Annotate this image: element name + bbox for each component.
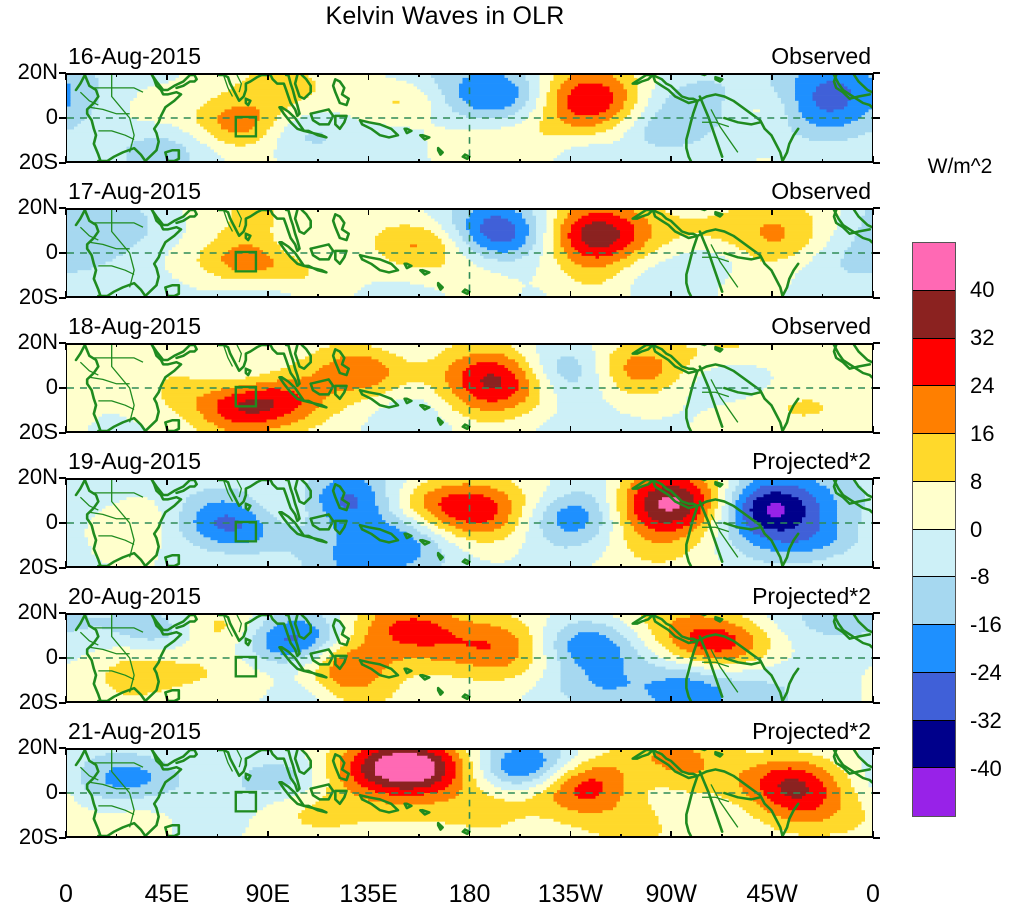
y-tick bbox=[873, 162, 880, 164]
map-panel-2: 17-Aug-2015Observed 20N020S bbox=[66, 208, 873, 298]
map-panel-3: 18-Aug-2015Observed 20N020S bbox=[66, 343, 873, 433]
y-tick bbox=[873, 252, 880, 254]
x-minor-tick bbox=[721, 73, 723, 77]
x-minor-tick bbox=[620, 613, 622, 617]
colorbar-tick-label: 40 bbox=[970, 277, 994, 303]
x-tick bbox=[166, 748, 168, 755]
x-minor-tick bbox=[217, 73, 219, 77]
x-minor-tick bbox=[620, 159, 622, 163]
x-tick bbox=[65, 478, 67, 485]
x-tick bbox=[670, 748, 672, 755]
x-tick bbox=[872, 478, 874, 485]
x-tick bbox=[469, 343, 471, 350]
x-minor-tick bbox=[217, 699, 219, 703]
x-tick bbox=[771, 831, 773, 838]
x-minor-tick bbox=[217, 748, 219, 752]
y-tick bbox=[59, 612, 66, 614]
x-tick bbox=[570, 613, 572, 620]
y-tick bbox=[873, 432, 880, 434]
x-minor-tick bbox=[217, 343, 219, 347]
x-tick bbox=[670, 561, 672, 568]
x-tick bbox=[368, 748, 370, 755]
x-axis-tick-label: 135E bbox=[339, 880, 397, 909]
x-tick bbox=[872, 613, 874, 620]
x-tick bbox=[872, 73, 874, 80]
x-minor-tick bbox=[822, 73, 824, 77]
y-tick bbox=[873, 657, 880, 659]
figure-root: Kelvin Waves in OLR 16-Aug-2015Observed … bbox=[0, 0, 1021, 920]
panel-date-label: 16-Aug-2015 bbox=[68, 43, 201, 70]
x-tick bbox=[267, 696, 269, 703]
x-tick bbox=[670, 831, 672, 838]
x-tick bbox=[368, 343, 370, 350]
colorbar-tick-label: 32 bbox=[970, 325, 994, 351]
y-tick bbox=[873, 522, 880, 524]
x-minor-tick bbox=[217, 613, 219, 617]
x-minor-tick bbox=[721, 159, 723, 163]
map-panel-6: 21-Aug-2015Projected*2 20N020S bbox=[66, 748, 873, 838]
x-tick bbox=[65, 613, 67, 620]
colorbar-band bbox=[913, 673, 955, 721]
x-tick bbox=[368, 208, 370, 215]
x-minor-tick bbox=[418, 478, 420, 482]
y-tick bbox=[59, 567, 66, 569]
x-tick bbox=[267, 73, 269, 80]
x-minor-tick bbox=[519, 478, 521, 482]
x-tick bbox=[166, 426, 168, 433]
x-tick bbox=[469, 156, 471, 163]
x-minor-tick bbox=[317, 748, 319, 752]
panel-date-label: 21-Aug-2015 bbox=[68, 718, 201, 745]
x-minor-tick bbox=[418, 699, 420, 703]
x-tick bbox=[166, 561, 168, 568]
y-axis-tick-label: 0 bbox=[0, 509, 58, 535]
x-tick bbox=[771, 156, 773, 163]
x-tick bbox=[570, 831, 572, 838]
x-minor-tick bbox=[116, 834, 118, 838]
y-tick bbox=[59, 837, 66, 839]
y-tick bbox=[59, 387, 66, 389]
y-tick bbox=[873, 297, 880, 299]
colorbar-band bbox=[913, 291, 955, 339]
olr-anomaly-field bbox=[67, 345, 872, 431]
y-tick bbox=[873, 612, 880, 614]
x-minor-tick bbox=[620, 429, 622, 433]
x-tick bbox=[469, 561, 471, 568]
x-minor-tick bbox=[217, 478, 219, 482]
x-tick bbox=[670, 613, 672, 620]
olr-anomaly-field bbox=[67, 75, 872, 161]
x-tick bbox=[872, 748, 874, 755]
x-minor-tick bbox=[116, 429, 118, 433]
x-tick bbox=[570, 73, 572, 80]
x-tick bbox=[65, 73, 67, 80]
x-tick bbox=[570, 208, 572, 215]
y-tick bbox=[873, 387, 880, 389]
x-tick bbox=[368, 613, 370, 620]
x-minor-tick bbox=[418, 73, 420, 77]
x-minor-tick bbox=[822, 159, 824, 163]
x-tick bbox=[570, 748, 572, 755]
colorbar-tick-label: -8 bbox=[970, 564, 990, 590]
panel-date-label: 20-Aug-2015 bbox=[68, 583, 201, 610]
x-tick bbox=[469, 831, 471, 838]
x-minor-tick bbox=[116, 159, 118, 163]
x-minor-tick bbox=[217, 564, 219, 568]
y-tick bbox=[873, 207, 880, 209]
x-minor-tick bbox=[519, 748, 521, 752]
colorbar-band bbox=[913, 577, 955, 625]
x-tick bbox=[166, 73, 168, 80]
x-tick bbox=[166, 291, 168, 298]
x-tick bbox=[368, 73, 370, 80]
colorbar-band bbox=[913, 434, 955, 482]
x-minor-tick bbox=[418, 159, 420, 163]
x-axis-tick-label: 180 bbox=[449, 880, 491, 909]
x-minor-tick bbox=[418, 429, 420, 433]
panel-source-label: Projected*2 bbox=[752, 583, 871, 610]
panel-source-label: Observed bbox=[771, 43, 871, 70]
x-tick bbox=[570, 156, 572, 163]
colorbar-tick-label: 16 bbox=[970, 421, 994, 447]
x-tick bbox=[267, 831, 269, 838]
y-axis-tick-label: 20N bbox=[0, 194, 58, 220]
x-minor-tick bbox=[519, 73, 521, 77]
x-axis-labels: 045E90E135E180135W90W45W0 bbox=[0, 880, 1021, 914]
x-axis-tick-label: 135W bbox=[538, 880, 603, 909]
x-tick bbox=[166, 696, 168, 703]
x-axis-tick-label: 0 bbox=[59, 880, 73, 909]
x-tick bbox=[65, 208, 67, 215]
x-minor-tick bbox=[317, 294, 319, 298]
x-minor-tick bbox=[217, 294, 219, 298]
x-minor-tick bbox=[721, 343, 723, 347]
x-minor-tick bbox=[519, 159, 521, 163]
x-tick bbox=[771, 343, 773, 350]
x-minor-tick bbox=[822, 564, 824, 568]
x-axis-tick-label: 0 bbox=[866, 880, 880, 909]
x-minor-tick bbox=[620, 564, 622, 568]
x-tick bbox=[670, 73, 672, 80]
y-axis-tick-label: 20S bbox=[0, 149, 58, 175]
panel-plot-area bbox=[66, 208, 873, 298]
panel-source-label: Observed bbox=[771, 313, 871, 340]
colorbar-tick-label: 8 bbox=[970, 469, 982, 495]
x-axis-tick-label: 45W bbox=[746, 880, 797, 909]
x-minor-tick bbox=[519, 208, 521, 212]
x-tick bbox=[570, 291, 572, 298]
x-tick bbox=[771, 696, 773, 703]
x-minor-tick bbox=[317, 564, 319, 568]
x-tick bbox=[368, 478, 370, 485]
x-minor-tick bbox=[317, 159, 319, 163]
x-tick bbox=[267, 343, 269, 350]
colorbar-band bbox=[913, 482, 955, 530]
map-panel-4: 19-Aug-2015Projected*2 20N020S bbox=[66, 478, 873, 568]
x-tick bbox=[267, 748, 269, 755]
colorbar-unit-label: W/m^2 bbox=[905, 155, 1015, 179]
panel-plot-area bbox=[66, 748, 873, 838]
x-tick bbox=[771, 208, 773, 215]
x-tick bbox=[469, 208, 471, 215]
x-tick bbox=[771, 291, 773, 298]
y-axis-tick-label: 20S bbox=[0, 554, 58, 580]
x-minor-tick bbox=[217, 834, 219, 838]
y-tick bbox=[873, 117, 880, 119]
x-minor-tick bbox=[620, 294, 622, 298]
x-tick bbox=[469, 478, 471, 485]
x-tick bbox=[469, 291, 471, 298]
x-minor-tick bbox=[519, 343, 521, 347]
x-minor-tick bbox=[721, 834, 723, 838]
colorbar-band bbox=[913, 339, 955, 387]
x-tick bbox=[771, 73, 773, 80]
x-minor-tick bbox=[418, 208, 420, 212]
x-minor-tick bbox=[721, 478, 723, 482]
panel-date-label: 17-Aug-2015 bbox=[68, 178, 201, 205]
y-axis-tick-label: 0 bbox=[0, 239, 58, 265]
x-tick bbox=[65, 343, 67, 350]
x-tick bbox=[771, 478, 773, 485]
panel-source-label: Projected*2 bbox=[752, 718, 871, 745]
colorbar-band bbox=[913, 625, 955, 673]
x-minor-tick bbox=[317, 343, 319, 347]
x-minor-tick bbox=[116, 748, 118, 752]
x-minor-tick bbox=[822, 294, 824, 298]
x-tick bbox=[166, 831, 168, 838]
x-minor-tick bbox=[620, 208, 622, 212]
colorbar-band bbox=[913, 721, 955, 769]
x-minor-tick bbox=[822, 208, 824, 212]
x-minor-tick bbox=[317, 834, 319, 838]
x-minor-tick bbox=[519, 429, 521, 433]
x-tick bbox=[65, 748, 67, 755]
x-tick bbox=[670, 291, 672, 298]
x-minor-tick bbox=[418, 564, 420, 568]
x-minor-tick bbox=[721, 613, 723, 617]
olr-anomaly-field bbox=[67, 750, 872, 836]
x-tick bbox=[570, 561, 572, 568]
x-tick bbox=[267, 208, 269, 215]
x-tick bbox=[267, 561, 269, 568]
x-tick bbox=[670, 478, 672, 485]
x-tick bbox=[771, 613, 773, 620]
colorbar-tick-label: 24 bbox=[970, 373, 994, 399]
x-tick bbox=[368, 831, 370, 838]
x-minor-tick bbox=[620, 73, 622, 77]
colorbar-band bbox=[913, 386, 955, 434]
colorbar-tick-label: 0 bbox=[970, 517, 982, 543]
y-axis-tick-label: 0 bbox=[0, 374, 58, 400]
x-tick bbox=[166, 478, 168, 485]
y-tick bbox=[873, 477, 880, 479]
colorbar-band bbox=[913, 243, 955, 291]
x-minor-tick bbox=[317, 429, 319, 433]
x-minor-tick bbox=[116, 208, 118, 212]
x-tick bbox=[771, 748, 773, 755]
map-panel-1: 16-Aug-2015Observed 20N020S bbox=[66, 73, 873, 163]
colorbar-tick-label: -24 bbox=[970, 660, 1002, 686]
panel-date-label: 19-Aug-2015 bbox=[68, 448, 201, 475]
x-minor-tick bbox=[116, 294, 118, 298]
y-axis-tick-label: 20S bbox=[0, 419, 58, 445]
x-tick bbox=[570, 426, 572, 433]
x-minor-tick bbox=[116, 478, 118, 482]
y-axis-tick-label: 20N bbox=[0, 59, 58, 85]
x-minor-tick bbox=[116, 699, 118, 703]
y-tick bbox=[873, 837, 880, 839]
x-tick bbox=[267, 156, 269, 163]
y-axis-tick-label: 20S bbox=[0, 284, 58, 310]
x-tick bbox=[166, 343, 168, 350]
panel-plot-area bbox=[66, 478, 873, 568]
colorbar-tick-labels: 4032241680-8-16-24-32-40 bbox=[962, 242, 1020, 817]
olr-anomaly-field bbox=[67, 210, 872, 296]
y-tick bbox=[873, 567, 880, 569]
x-minor-tick bbox=[620, 478, 622, 482]
x-minor-tick bbox=[721, 208, 723, 212]
x-tick bbox=[771, 561, 773, 568]
y-axis-tick-label: 0 bbox=[0, 104, 58, 130]
panel-plot-area bbox=[66, 613, 873, 703]
x-minor-tick bbox=[217, 208, 219, 212]
x-minor-tick bbox=[620, 834, 622, 838]
x-minor-tick bbox=[116, 73, 118, 77]
x-minor-tick bbox=[620, 699, 622, 703]
x-minor-tick bbox=[822, 613, 824, 617]
x-tick bbox=[570, 696, 572, 703]
y-tick bbox=[59, 657, 66, 659]
x-minor-tick bbox=[519, 699, 521, 703]
y-tick bbox=[59, 702, 66, 704]
page-title: Kelvin Waves in OLR bbox=[0, 2, 890, 31]
x-tick bbox=[368, 696, 370, 703]
x-tick bbox=[670, 208, 672, 215]
x-axis-tick-label: 90W bbox=[646, 880, 697, 909]
y-tick bbox=[59, 207, 66, 209]
olr-anomaly-field bbox=[67, 615, 872, 701]
x-minor-tick bbox=[317, 73, 319, 77]
y-tick bbox=[59, 432, 66, 434]
x-minor-tick bbox=[822, 429, 824, 433]
x-minor-tick bbox=[721, 748, 723, 752]
y-tick bbox=[873, 72, 880, 74]
x-tick bbox=[872, 208, 874, 215]
colorbar-band bbox=[913, 530, 955, 578]
x-minor-tick bbox=[418, 294, 420, 298]
x-tick bbox=[469, 426, 471, 433]
y-axis-tick-label: 20N bbox=[0, 329, 58, 355]
colorbar-tick-label: -32 bbox=[970, 708, 1002, 734]
x-minor-tick bbox=[721, 699, 723, 703]
x-tick bbox=[670, 696, 672, 703]
x-tick bbox=[166, 208, 168, 215]
x-tick bbox=[469, 73, 471, 80]
x-minor-tick bbox=[822, 748, 824, 752]
x-tick bbox=[771, 426, 773, 433]
x-tick bbox=[368, 291, 370, 298]
y-tick bbox=[59, 252, 66, 254]
x-minor-tick bbox=[519, 564, 521, 568]
y-axis-tick-label: 20N bbox=[0, 599, 58, 625]
x-minor-tick bbox=[519, 613, 521, 617]
x-tick bbox=[267, 291, 269, 298]
y-tick bbox=[873, 792, 880, 794]
x-tick bbox=[872, 343, 874, 350]
x-axis-tick-label: 90E bbox=[246, 880, 290, 909]
x-minor-tick bbox=[721, 294, 723, 298]
x-minor-tick bbox=[217, 429, 219, 433]
x-minor-tick bbox=[822, 699, 824, 703]
x-minor-tick bbox=[721, 564, 723, 568]
y-tick bbox=[873, 747, 880, 749]
y-axis-tick-label: 20N bbox=[0, 734, 58, 760]
y-tick bbox=[59, 747, 66, 749]
panel-source-label: Observed bbox=[771, 178, 871, 205]
y-axis-tick-label: 0 bbox=[0, 779, 58, 805]
panel-source-label: Projected*2 bbox=[752, 448, 871, 475]
x-tick bbox=[469, 748, 471, 755]
x-tick bbox=[267, 613, 269, 620]
x-minor-tick bbox=[317, 478, 319, 482]
panel-plot-area bbox=[66, 343, 873, 433]
y-tick bbox=[59, 477, 66, 479]
y-tick bbox=[873, 702, 880, 704]
y-tick bbox=[59, 342, 66, 344]
y-tick bbox=[873, 342, 880, 344]
colorbar-tick-label: -16 bbox=[970, 612, 1002, 638]
x-minor-tick bbox=[217, 159, 219, 163]
x-tick bbox=[670, 343, 672, 350]
y-tick bbox=[59, 72, 66, 74]
map-panel-5: 20-Aug-2015Projected*2 20N020S bbox=[66, 613, 873, 703]
y-axis-tick-label: 20S bbox=[0, 824, 58, 850]
x-tick bbox=[368, 426, 370, 433]
x-tick bbox=[469, 613, 471, 620]
x-minor-tick bbox=[317, 699, 319, 703]
x-tick bbox=[267, 426, 269, 433]
x-tick bbox=[469, 696, 471, 703]
x-minor-tick bbox=[418, 343, 420, 347]
colorbar-tick-label: -40 bbox=[970, 756, 1002, 782]
olr-anomaly-field bbox=[67, 480, 872, 566]
x-tick bbox=[267, 478, 269, 485]
x-minor-tick bbox=[620, 748, 622, 752]
x-minor-tick bbox=[418, 748, 420, 752]
y-tick bbox=[59, 792, 66, 794]
y-tick bbox=[59, 297, 66, 299]
x-tick bbox=[670, 156, 672, 163]
y-tick bbox=[59, 522, 66, 524]
x-axis-tick-label: 45E bbox=[145, 880, 189, 909]
y-axis-tick-label: 0 bbox=[0, 644, 58, 670]
x-tick bbox=[570, 343, 572, 350]
x-minor-tick bbox=[822, 478, 824, 482]
x-minor-tick bbox=[519, 834, 521, 838]
x-minor-tick bbox=[822, 834, 824, 838]
panel-plot-area bbox=[66, 73, 873, 163]
panel-date-label: 18-Aug-2015 bbox=[68, 313, 201, 340]
y-tick bbox=[59, 117, 66, 119]
y-tick bbox=[59, 162, 66, 164]
x-minor-tick bbox=[116, 613, 118, 617]
x-minor-tick bbox=[519, 294, 521, 298]
x-tick bbox=[166, 613, 168, 620]
x-minor-tick bbox=[620, 343, 622, 347]
x-minor-tick bbox=[317, 208, 319, 212]
x-minor-tick bbox=[721, 429, 723, 433]
x-tick bbox=[368, 561, 370, 568]
